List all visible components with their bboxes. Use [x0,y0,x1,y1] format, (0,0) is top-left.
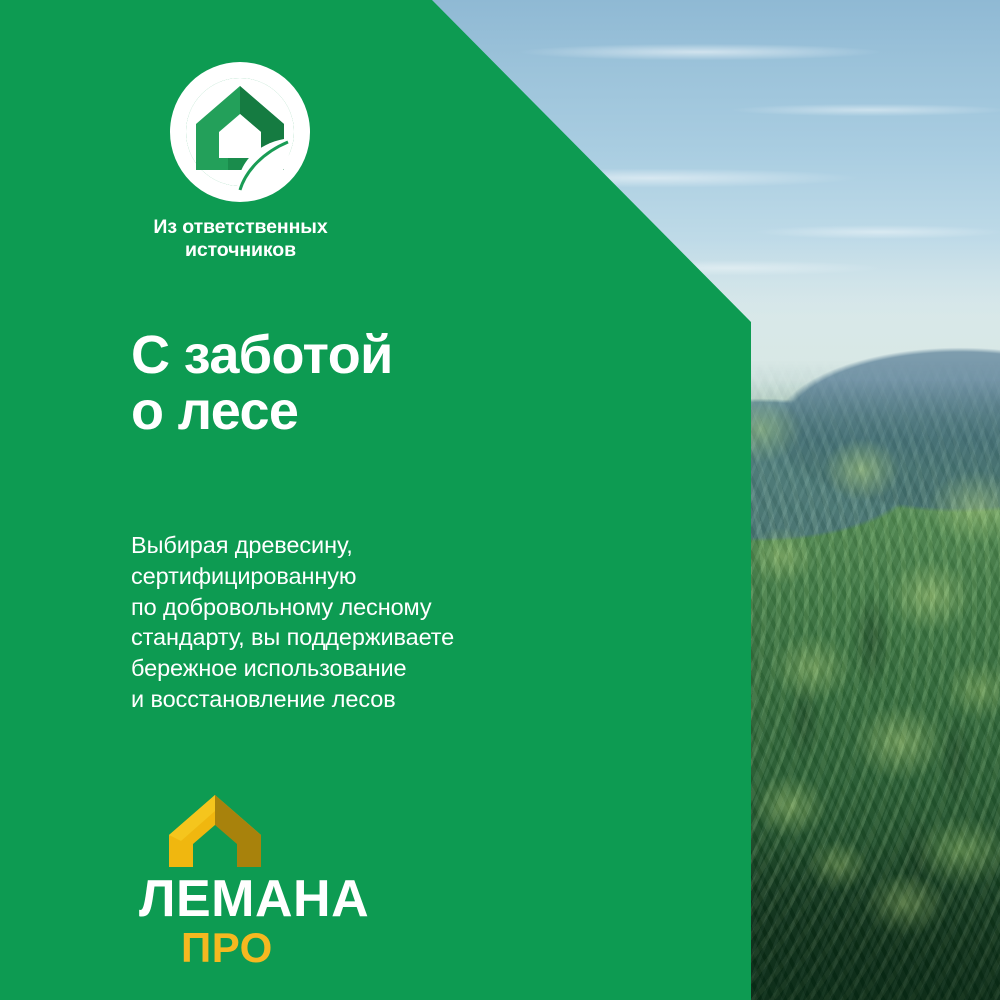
responsible-sources-emblem-icon [166,58,314,206]
body-copy: Выбирая древесину, сертифицированную по … [131,530,454,715]
page-title: С заботой о лесе [131,327,393,439]
brand-name: ЛЕМАНА [139,873,369,925]
brand-subname: ПРО [181,927,369,969]
poster: Из ответственных источников С заботой о … [0,0,1000,1000]
poster-content: Из ответственных источников С заботой о … [0,0,1000,1000]
certification-badge: Из ответственных источников [128,58,428,262]
brand-lockup: ЛЕМАНА ПРО [139,795,369,969]
certification-caption: Из ответственных источников [128,216,353,262]
lemana-house-icon [169,795,261,867]
